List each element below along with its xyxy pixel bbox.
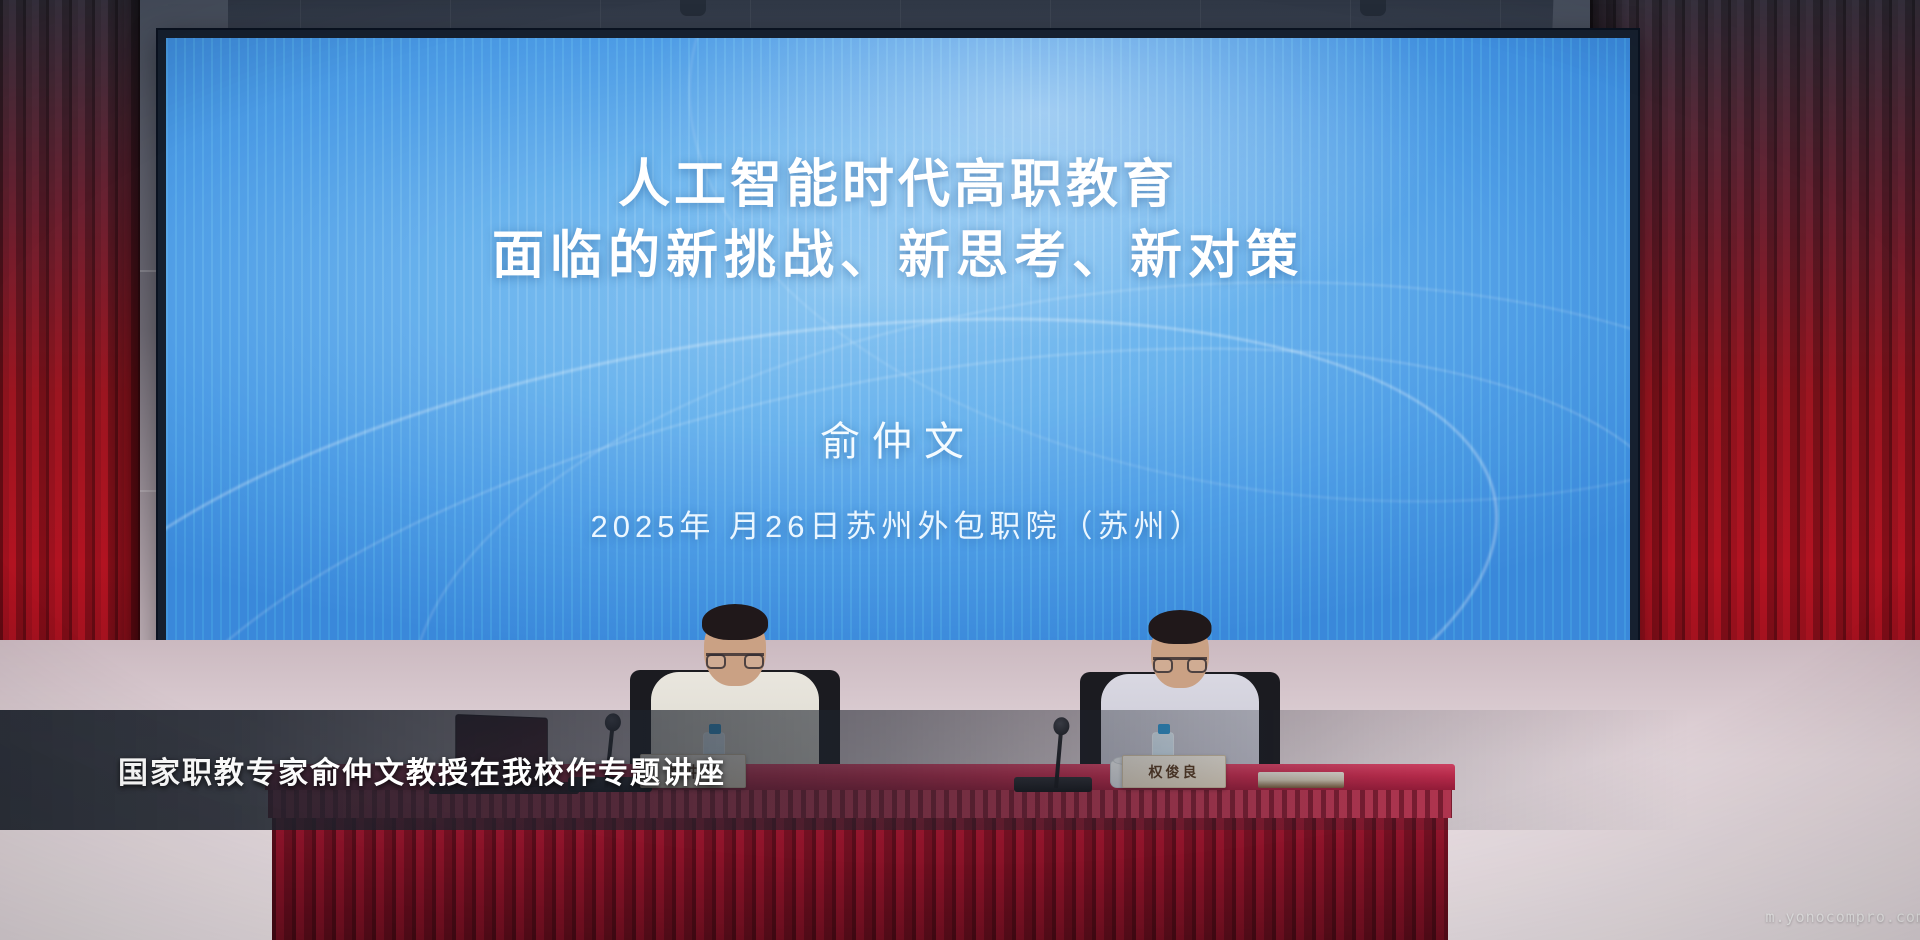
lecture-photo: 人工智能时代高职教育 面临的新挑战、新思考、新对策 俞仲文 2025年 月26日… (0, 0, 1920, 940)
speaker-right-hair (1149, 610, 1212, 644)
glasses-icon (1153, 657, 1207, 660)
speaker-left-hair (702, 604, 768, 640)
slide-background: 人工智能时代高职教育 面临的新挑战、新思考、新对策 俞仲文 2025年 月26日… (166, 38, 1630, 662)
slide-content: 人工智能时代高职教育 面临的新挑战、新思考、新对策 俞仲文 2025年 月26日… (166, 38, 1630, 662)
slide-presenter-name: 俞仲文 (166, 409, 1630, 467)
slide-title: 人工智能时代高职教育 面临的新挑战、新思考、新对策 (166, 38, 1630, 291)
glasses-icon (706, 653, 764, 656)
site-watermark: m.yonocompro.com (1766, 908, 1920, 926)
ceiling-spot-light-icon (680, 0, 706, 16)
slide-title-line-2: 面临的新挑战、新思考、新对策 (166, 221, 1630, 292)
slide-date-venue: 2025年 月26日苏州外包职院（苏州） (166, 501, 1630, 546)
ceiling-spot-light-icon (1360, 0, 1386, 16)
led-screen: 人工智能时代高职教育 面临的新挑战、新思考、新对策 俞仲文 2025年 月26日… (158, 30, 1638, 670)
photo-caption: 国家职教专家俞仲文教授在我校作专题讲座 (118, 748, 726, 792)
slide-title-line-1: 人工智能时代高职教育 (618, 156, 1178, 214)
